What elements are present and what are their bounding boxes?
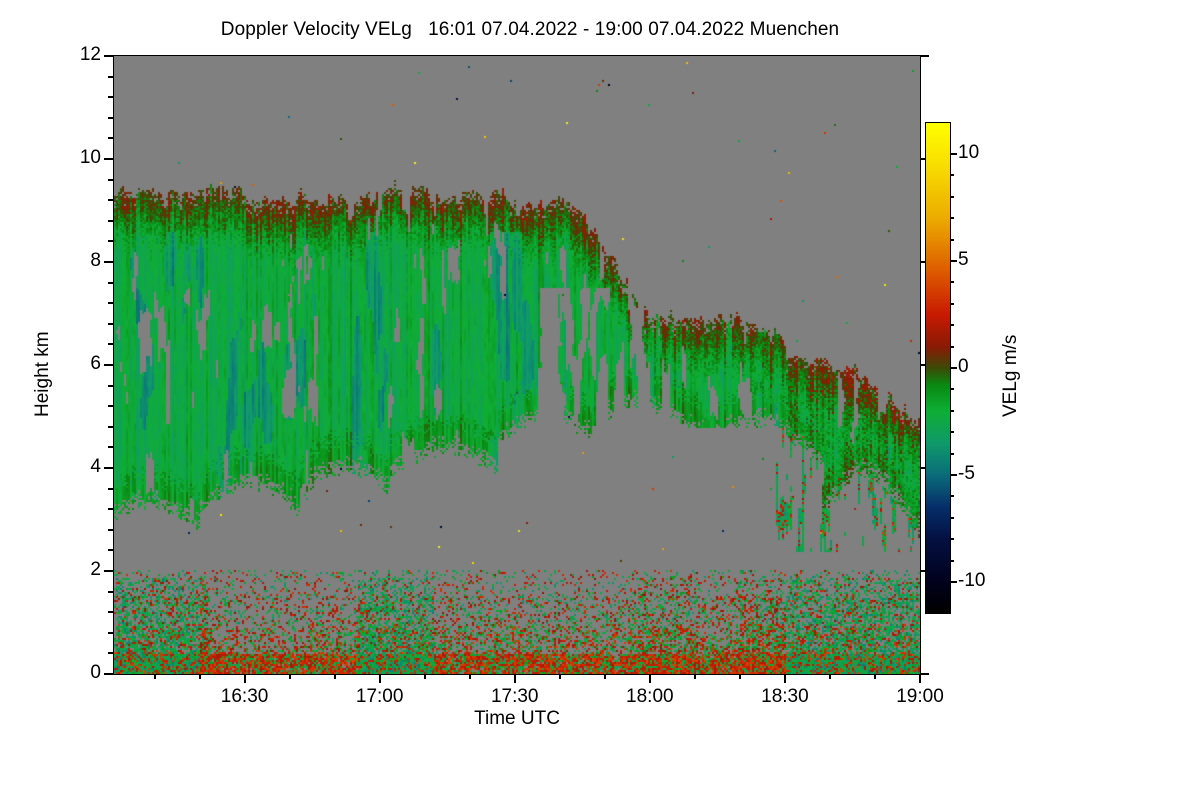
colorbar-tick-minor xyxy=(950,560,954,562)
y-tick-minor xyxy=(108,591,113,593)
colorbar-tick-minor xyxy=(950,196,954,198)
x-tick-minor xyxy=(604,674,606,679)
y-tick-minor xyxy=(108,323,113,325)
x-tick-label: 18:00 xyxy=(590,686,710,708)
y-tick-minor xyxy=(108,508,113,510)
y-tick-minor xyxy=(108,117,113,119)
colorbar-tick xyxy=(950,474,957,476)
y-tick-major xyxy=(104,158,113,160)
y-tick-label: 4 xyxy=(41,456,101,478)
y-tick-major xyxy=(104,55,113,57)
colorbar-tick-minor xyxy=(950,517,954,519)
y-tick-minor xyxy=(108,385,113,387)
y-tick-major xyxy=(104,261,113,263)
x-tick-minor xyxy=(874,674,876,679)
colorbar-tick-minor xyxy=(950,453,954,455)
colorbar-tick-minor xyxy=(950,324,954,326)
colorbar-tick-label: -5 xyxy=(958,463,975,485)
y-tick-minor xyxy=(108,96,113,98)
colorbar-tick-minor xyxy=(950,281,954,283)
x-tick-major xyxy=(514,674,516,683)
x-tick-major xyxy=(649,674,651,683)
colorbar-tick-minor xyxy=(950,217,954,219)
y-tick-minor xyxy=(108,426,113,428)
velocity-heatmap-canvas xyxy=(114,56,920,674)
y-tick-minor xyxy=(108,302,113,304)
x-tick-major xyxy=(379,674,381,683)
x-tick-label: 16:30 xyxy=(185,686,305,708)
colorbar-tick-minor xyxy=(950,410,954,412)
colorbar-gradient xyxy=(926,123,950,613)
x-tick-major xyxy=(919,674,921,683)
page-title: Doppler Velocity VELg 16:01 07.04.2022 -… xyxy=(0,19,1060,41)
x-tick-label: 18:30 xyxy=(725,686,845,708)
colorbar-tick-minor xyxy=(950,303,954,305)
colorbar-tick xyxy=(950,153,957,155)
y-tick-minor xyxy=(108,179,113,181)
x-tick-minor xyxy=(289,674,291,679)
x-tick-label: 19:00 xyxy=(860,686,980,708)
colorbar-label: VELg m/s xyxy=(1000,335,1022,417)
doppler-velocity-plot: Doppler Velocity VELg 16:01 07.04.2022 -… xyxy=(0,0,1200,800)
y-tick-minor xyxy=(108,652,113,654)
y-tick-label: 8 xyxy=(41,250,101,272)
y-tick-label: 2 xyxy=(41,559,101,581)
y-tick-minor xyxy=(108,199,113,201)
y-tick-minor xyxy=(108,343,113,345)
colorbar-tick-minor xyxy=(950,431,954,433)
y-tick-minor xyxy=(108,76,113,78)
y-tick-label: 10 xyxy=(41,147,101,169)
colorbar-tick-minor xyxy=(950,538,954,540)
colorbar-tick-minor xyxy=(950,239,954,241)
x-tick-label: 17:30 xyxy=(455,686,575,708)
colorbar-tick xyxy=(950,260,957,262)
colorbar-tick xyxy=(950,581,957,583)
y-tick-minor xyxy=(108,549,113,551)
y-tick-major-right xyxy=(920,673,929,675)
x-tick-minor xyxy=(469,674,471,679)
x-tick-minor xyxy=(199,674,201,679)
colorbar-tick-minor xyxy=(950,174,954,176)
x-tick-minor xyxy=(739,674,741,679)
colorbar-tick xyxy=(950,367,957,369)
colorbar-tick-label: 0 xyxy=(958,356,969,378)
x-tick-minor xyxy=(829,674,831,679)
y-tick-label: 0 xyxy=(41,662,101,684)
y-tick-major xyxy=(104,673,113,675)
y-tick-major xyxy=(104,364,113,366)
x-tick-major xyxy=(244,674,246,683)
y-tick-minor xyxy=(108,240,113,242)
y-tick-minor xyxy=(108,405,113,407)
y-tick-label: 12 xyxy=(41,44,101,66)
y-tick-minor xyxy=(108,611,113,613)
x-tick-minor xyxy=(694,674,696,679)
y-tick-minor xyxy=(108,137,113,139)
y-tick-major xyxy=(104,570,113,572)
colorbar-tick-label: 5 xyxy=(958,249,969,271)
y-tick-major-right xyxy=(920,55,929,57)
x-tick-minor xyxy=(559,674,561,679)
colorbar-tick-label: 10 xyxy=(958,142,979,164)
x-axis-label: Time UTC xyxy=(113,708,921,730)
x-tick-major xyxy=(784,674,786,683)
colorbar-tick-label: -10 xyxy=(958,570,985,592)
colorbar xyxy=(925,122,951,614)
x-tick-minor xyxy=(154,674,156,679)
x-tick-minor xyxy=(424,674,426,679)
plot-area xyxy=(113,55,921,675)
y-tick-minor xyxy=(108,446,113,448)
x-tick-label: 17:00 xyxy=(320,686,440,708)
colorbar-tick-minor xyxy=(950,346,954,348)
x-tick-minor xyxy=(334,674,336,679)
colorbar-tick-minor xyxy=(950,388,954,390)
y-tick-minor xyxy=(108,529,113,531)
y-tick-minor xyxy=(108,632,113,634)
y-tick-minor xyxy=(108,220,113,222)
y-tick-label: 6 xyxy=(41,353,101,375)
y-tick-minor xyxy=(108,282,113,284)
colorbar-tick-minor xyxy=(950,495,954,497)
y-tick-major xyxy=(104,467,113,469)
y-tick-minor xyxy=(108,488,113,490)
